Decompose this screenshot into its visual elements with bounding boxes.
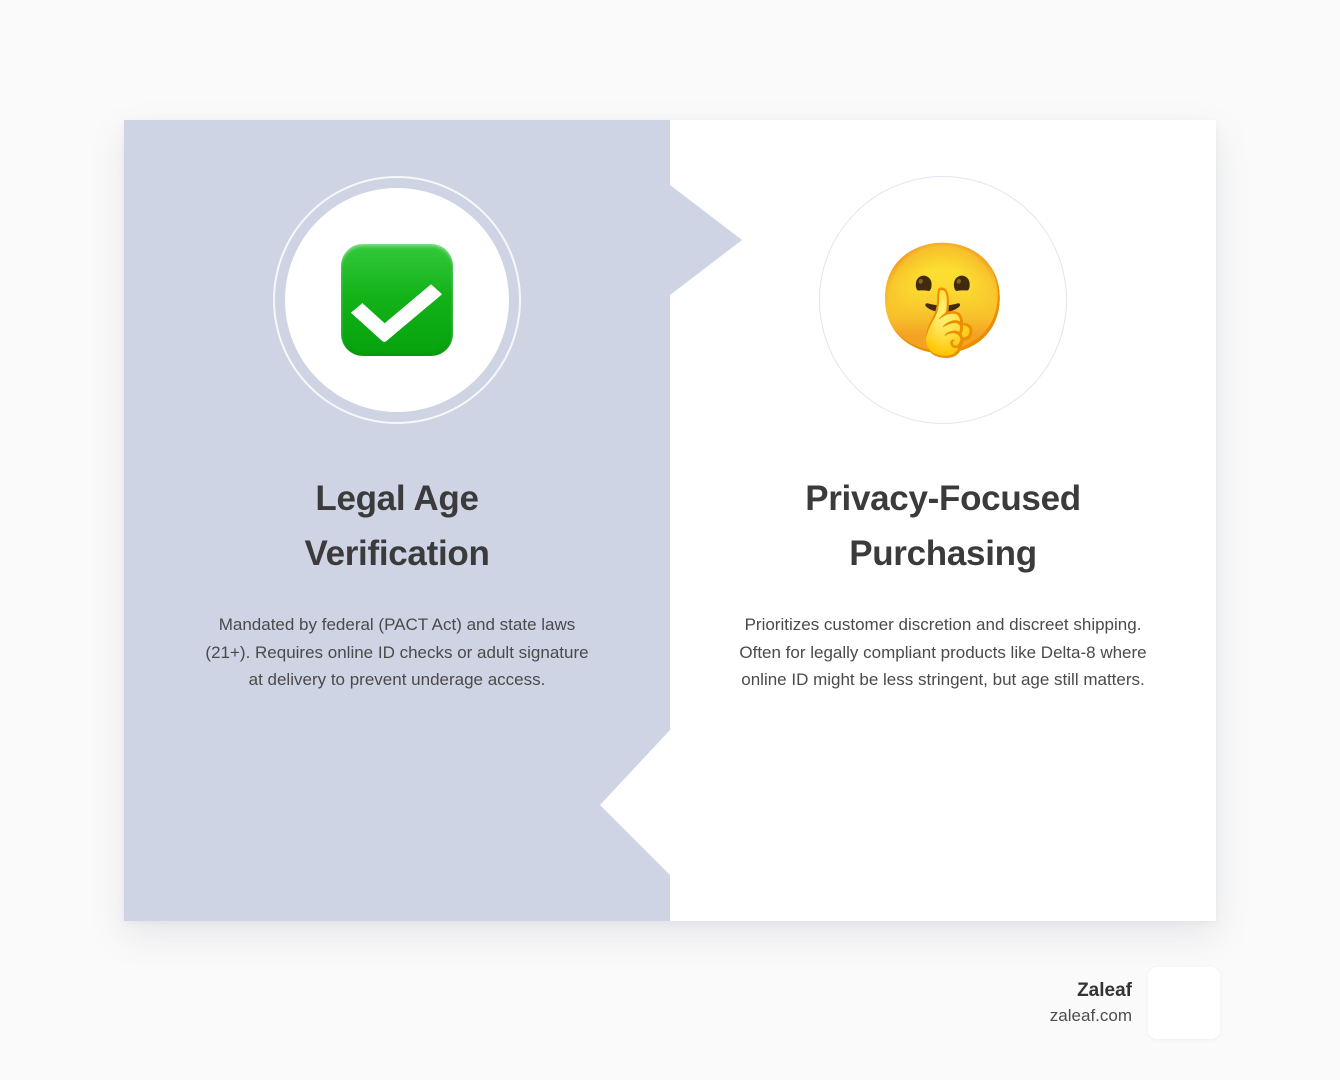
panel-legal-age-verification: Legal Age Verification Mandated by feder… xyxy=(124,120,670,921)
panel-privacy-focused-purchasing: 🤫 Privacy-Focused Purchasing Prioritizes… xyxy=(670,120,1216,921)
brand-url[interactable]: zaleaf.com xyxy=(1050,1006,1132,1026)
panel-heading: Legal Age Verification xyxy=(227,472,567,581)
panel-body-text: Mandated by federal (PACT Act) and state… xyxy=(197,611,597,694)
panel-columns: Legal Age Verification Mandated by feder… xyxy=(124,120,1216,921)
brand-text-group: Zaleaf zaleaf.com xyxy=(1050,980,1132,1026)
panel-heading: Privacy-Focused Purchasing xyxy=(773,472,1113,581)
zaleaf-logo xyxy=(1148,967,1220,1039)
panel-body-text: Prioritizes customer discretion and disc… xyxy=(738,611,1148,694)
branding-footer: Zaleaf zaleaf.com xyxy=(1004,962,1220,1044)
comparison-card: Legal Age Verification Mandated by feder… xyxy=(124,120,1216,921)
icon-circle: 🤫 xyxy=(819,176,1067,424)
legal-age-icon-wrap xyxy=(273,176,521,424)
icon-circle xyxy=(285,188,509,412)
shushing-face-icon: 🤫 xyxy=(876,246,1010,354)
green-check-mark-icon xyxy=(341,244,453,356)
brand-name: Zaleaf xyxy=(1077,980,1132,1003)
privacy-icon-wrap: 🤫 xyxy=(819,176,1067,424)
